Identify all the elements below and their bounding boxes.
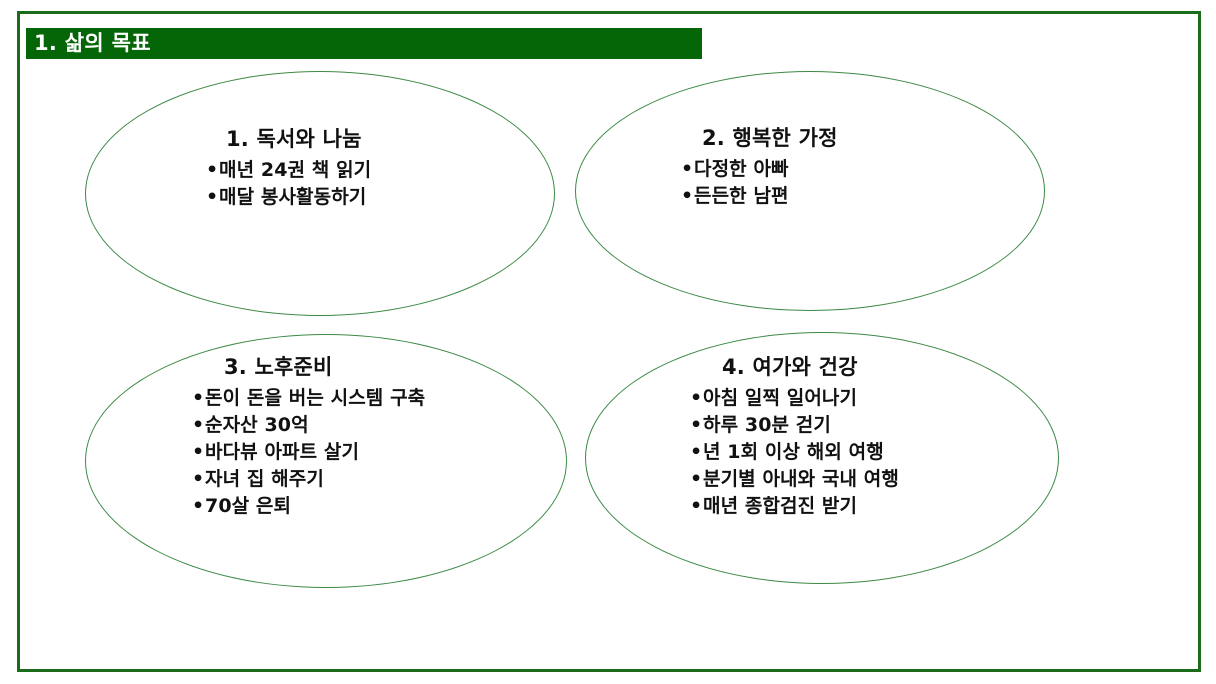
bullet-dot-icon: • xyxy=(690,439,703,466)
goal-4-heading: 4. 여가와 건강 xyxy=(722,355,858,379)
list-item: • 자녀 집 해주기 xyxy=(192,466,425,493)
list-item: • 70살 은퇴 xyxy=(192,493,425,520)
list-item: • 든든한 남편 xyxy=(681,183,789,210)
page-title: 1. 삶의 목표 xyxy=(34,33,151,54)
list-item: • 바다뷰 아파트 살기 xyxy=(192,439,425,466)
bullet-dot-icon: • xyxy=(681,183,694,210)
slide-title-bar: 1. 삶의 목표 xyxy=(26,28,702,59)
list-item-label: 년 1회 이상 해외 여행 xyxy=(703,439,884,466)
bullet-dot-icon: • xyxy=(690,493,703,520)
list-item: • 년 1회 이상 해외 여행 xyxy=(690,439,899,466)
bullet-dot-icon: • xyxy=(192,385,205,412)
goal-ellipse-3-content: 3. 노후준비 • 돈이 돈을 버는 시스템 구축 • 순자산 30억 • 바다… xyxy=(86,335,672,520)
goal-1-bullet-list: • 매년 24권 책 읽기 • 매달 봉사활동하기 xyxy=(206,157,371,211)
list-item: • 돈이 돈을 버는 시스템 구축 xyxy=(192,385,425,412)
goal-1-heading: 1. 독서와 나눔 xyxy=(226,127,362,151)
list-item-label: 70살 은퇴 xyxy=(205,493,291,520)
list-item: • 매달 봉사활동하기 xyxy=(206,184,371,211)
goal-ellipse-2[interactable]: 2. 행복한 가정 • 다정한 아빠 • 든든한 남편 xyxy=(575,71,1045,311)
bullet-dot-icon: • xyxy=(206,157,219,184)
goal-ellipse-3[interactable]: 3. 노후준비 • 돈이 돈을 버는 시스템 구축 • 순자산 30억 • 바다… xyxy=(85,334,567,588)
list-item: • 매년 종합검진 받기 xyxy=(690,493,899,520)
list-item: • 분기별 아내와 국내 여행 xyxy=(690,466,899,493)
list-item-label: 돈이 돈을 버는 시스템 구축 xyxy=(205,385,425,412)
goal-4-bullet-list: • 아침 일찍 일어나기 • 하루 30분 걷기 • 년 1회 이상 해외 여행… xyxy=(690,385,899,520)
goal-ellipse-4[interactable]: 4. 여가와 건강 • 아침 일찍 일어나기 • 하루 30분 걷기 • 년 1… xyxy=(585,332,1059,584)
list-item-label: 매년 종합검진 받기 xyxy=(703,493,857,520)
list-item-label: 하루 30분 걷기 xyxy=(703,412,831,439)
list-item: • 하루 30분 걷기 xyxy=(690,412,899,439)
list-item-label: 아침 일찍 일어나기 xyxy=(703,385,857,412)
list-item-label: 든든한 남편 xyxy=(694,183,789,210)
bullet-dot-icon: • xyxy=(681,156,694,183)
goal-3-bullet-list: • 돈이 돈을 버는 시스템 구축 • 순자산 30억 • 바다뷰 아파트 살기… xyxy=(192,385,425,520)
goal-ellipse-4-content: 4. 여가와 건강 • 아침 일찍 일어나기 • 하루 30분 걷기 • 년 1… xyxy=(586,333,1158,520)
bullet-dot-icon: • xyxy=(192,439,205,466)
list-item-label: 매달 봉사활동하기 xyxy=(219,184,366,211)
bullet-dot-icon: • xyxy=(192,466,205,493)
list-item: • 매년 24권 책 읽기 xyxy=(206,157,371,184)
slide-canvas: 1. 삶의 목표 1. 독서와 나눔 • 매년 24권 책 읽기 • 매달 봉사… xyxy=(0,0,1216,684)
list-item-label: 자녀 집 해주기 xyxy=(205,466,324,493)
list-item-label: 분기별 아내와 국내 여행 xyxy=(703,466,899,493)
bullet-dot-icon: • xyxy=(206,184,219,211)
list-item-label: 바다뷰 아파트 살기 xyxy=(205,439,359,466)
goal-2-bullet-list: • 다정한 아빠 • 든든한 남편 xyxy=(681,156,789,210)
list-item: • 아침 일찍 일어나기 xyxy=(690,385,899,412)
list-item-label: 매년 24권 책 읽기 xyxy=(219,157,371,184)
bullet-dot-icon: • xyxy=(690,466,703,493)
list-item-label: 순자산 30억 xyxy=(205,412,309,439)
bullet-dot-icon: • xyxy=(690,412,703,439)
goal-2-heading: 2. 행복한 가정 xyxy=(702,126,838,150)
bullet-dot-icon: • xyxy=(192,412,205,439)
bullet-dot-icon: • xyxy=(690,385,703,412)
list-item: • 다정한 아빠 xyxy=(681,156,789,183)
goal-3-heading: 3. 노후준비 xyxy=(224,355,333,379)
list-item: • 순자산 30억 xyxy=(192,412,425,439)
bullet-dot-icon: • xyxy=(192,493,205,520)
list-item-label: 다정한 아빠 xyxy=(694,156,789,183)
goal-ellipse-1[interactable]: 1. 독서와 나눔 • 매년 24권 책 읽기 • 매달 봉사활동하기 xyxy=(85,71,555,316)
goal-ellipse-2-content: 2. 행복한 가정 • 다정한 아빠 • 든든한 남편 xyxy=(576,72,1154,210)
